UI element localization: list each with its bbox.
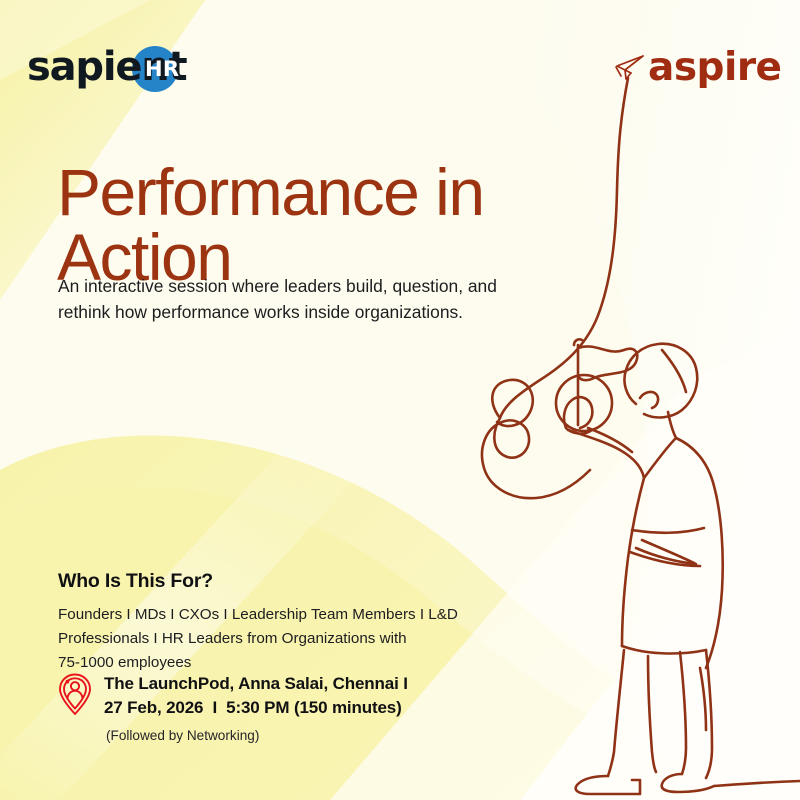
subtitle-line-2: rethink how performance works inside org… xyxy=(58,300,558,326)
venue-note: (Followed by Networking) xyxy=(106,727,408,745)
location-pin-person-icon xyxy=(58,673,92,715)
venue-line-1: The LaunchPod, Anna Salai, Chennai I xyxy=(104,672,408,696)
venue-line-2: 27 Feb, 2026 I 5:30 PM (150 minutes) xyxy=(104,696,408,720)
brand-logo[interactable]: sapient HR xyxy=(27,42,186,92)
aspire-lockup[interactable]: aspire xyxy=(612,48,782,87)
audience-heading: Who Is This For? xyxy=(58,570,213,593)
audience-description: Founders I MDs I CXOs I Leadership Team … xyxy=(58,603,478,674)
logo-hr-label: HR xyxy=(145,59,179,80)
venue-details: The LaunchPod, Anna Salai, Chennai I 27 … xyxy=(58,671,408,745)
poster-headline: Performance in Action xyxy=(57,160,557,289)
paper-plane-icon xyxy=(612,53,646,83)
subtitle-line-1: An interactive session where leaders bui… xyxy=(58,274,558,300)
aspire-wordmark: aspire xyxy=(648,48,782,87)
audience-line-2: Professionals I HR Leaders from Organiza… xyxy=(58,627,478,651)
headline-line-1: Performance in xyxy=(57,160,557,225)
poster-subtitle: An interactive session where leaders bui… xyxy=(58,274,558,326)
audience-line-1: Founders I MDs I CXOs I Leadership Team … xyxy=(58,603,478,627)
venue-text-column: The LaunchPod, Anna Salai, Chennai I 27 … xyxy=(104,671,408,745)
event-poster: sapient HR aspire Performance in Action … xyxy=(0,0,800,800)
